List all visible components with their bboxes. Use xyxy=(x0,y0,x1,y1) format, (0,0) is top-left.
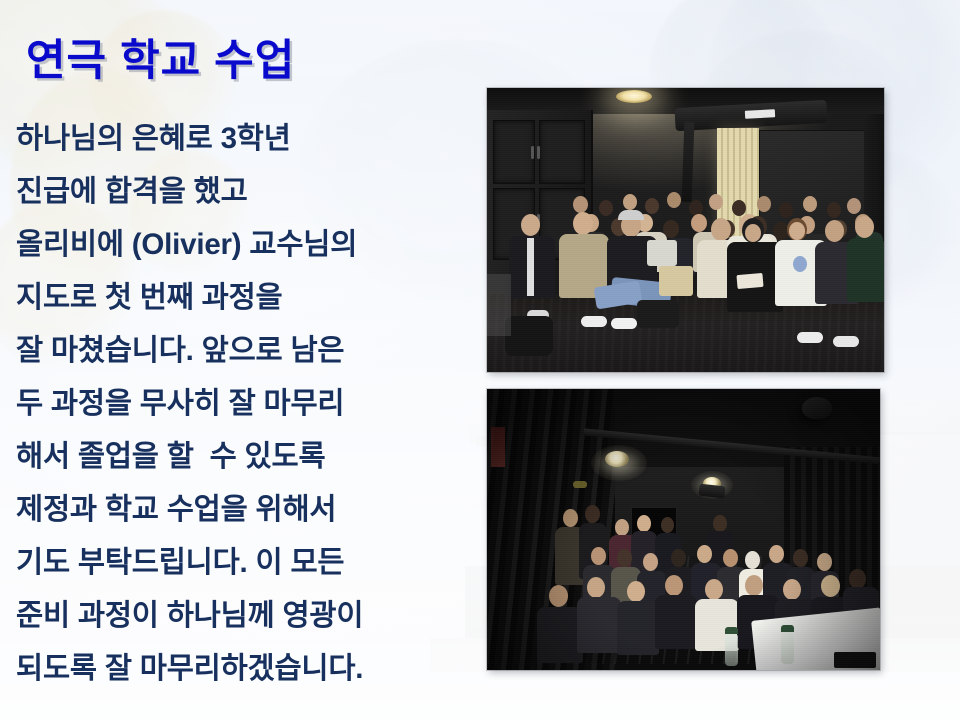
photo-theatre-group xyxy=(487,389,880,670)
body-line: 잘 마쳤습니다. 앞으로 남은 xyxy=(16,324,480,377)
body-line: 되도록 잘 마무리하겠습니다. xyxy=(16,642,480,695)
body-line: 지도로 첫 번째 과정을 xyxy=(16,271,480,324)
body-text-block: 하나님의 은혜로 3학년 진급에 합격을 했고 올리비에 (Olivier) 교… xyxy=(16,112,480,695)
ceiling-light xyxy=(616,90,652,103)
body-line: 진급에 합격을 했고 xyxy=(16,165,480,218)
text-column: 연극 학교 수업 하나님의 은혜로 3학년 진급에 합격을 했고 올리비에 (O… xyxy=(0,0,480,720)
body-line: 하나님의 은혜로 3학년 xyxy=(16,112,480,165)
body-line: 올리비에 (Olivier) 교수님의 xyxy=(16,218,480,271)
photo-classroom-group xyxy=(487,88,884,372)
body-line: 제정과 학교 수업을 위해서 xyxy=(16,483,480,536)
slide-root: 연극 학교 수업 하나님의 은혜로 3학년 진급에 합격을 했고 올리비에 (O… xyxy=(0,0,960,720)
body-line: 두 과정을 무사히 잘 마무리 xyxy=(16,377,480,430)
page-title: 연극 학교 수업 xyxy=(26,26,295,88)
body-line: 준비 과정이 하나님께 영광이 xyxy=(16,589,480,642)
body-line: 기도 부탁드립니다. 이 모든 xyxy=(16,536,480,589)
body-line: 해서 졸업을 할 수 있도록 xyxy=(16,430,480,483)
